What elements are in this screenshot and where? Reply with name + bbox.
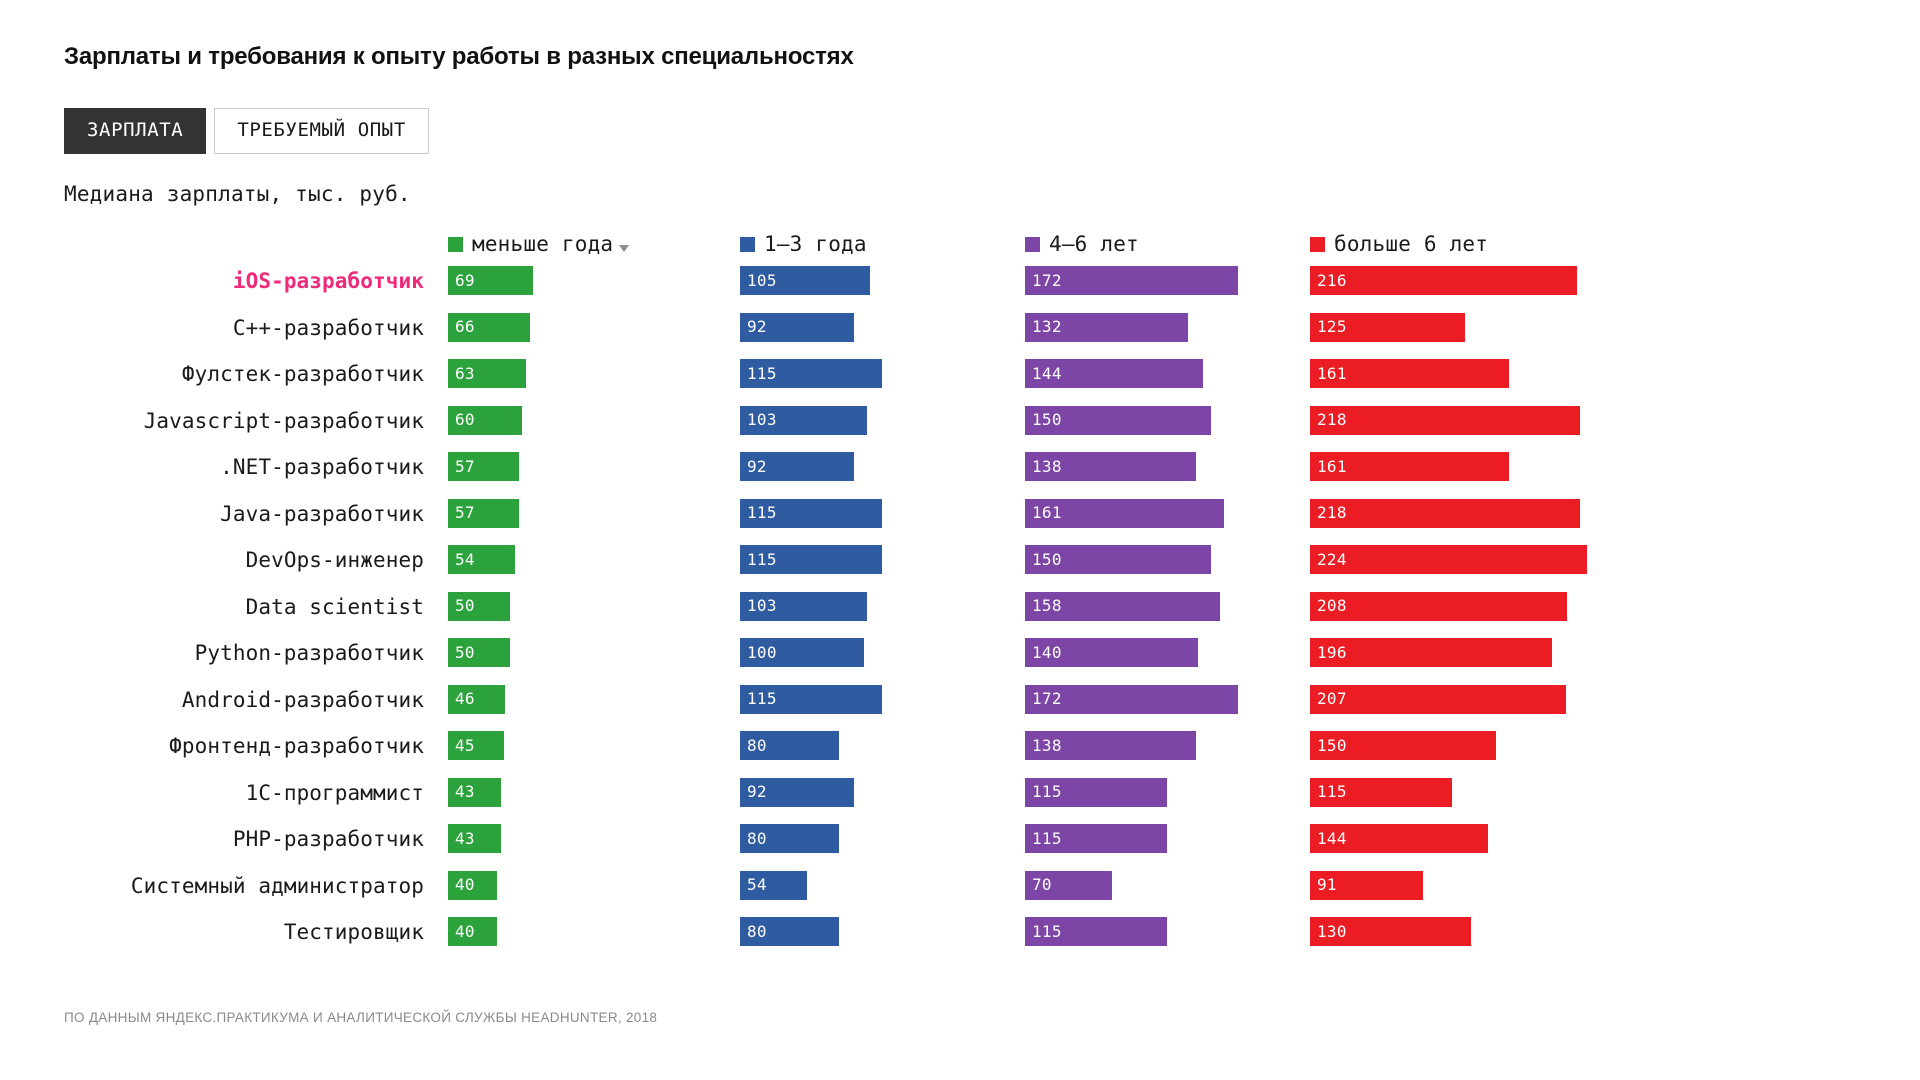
bar-series-1[interactable]: 50 <box>448 592 510 621</box>
row-label-10[interactable]: Android-разработчик <box>182 688 424 712</box>
bar-series-2[interactable]: 115 <box>740 499 882 528</box>
bar-value-label: 158 <box>1025 598 1062 614</box>
bar-series-4[interactable]: 91 <box>1310 871 1423 900</box>
bar-value-label: 46 <box>448 691 475 707</box>
bar-series-2[interactable]: 100 <box>740 638 864 667</box>
bar-series-3[interactable]: 132 <box>1025 313 1188 342</box>
chart-legend: меньше года1–3 года4–6 летбольше 6 лет <box>0 232 1920 266</box>
bar-series-4[interactable]: 207 <box>1310 685 1566 714</box>
bar-series-3[interactable]: 161 <box>1025 499 1224 528</box>
legend-swatch-icon <box>448 237 463 252</box>
chart-row: iOS-разработчик69105172216 <box>0 266 1920 313</box>
bar-value-label: 132 <box>1025 319 1062 335</box>
bar-series-2[interactable]: 80 <box>740 917 839 946</box>
chart-row: DevOps-инженер54115150224 <box>0 545 1920 592</box>
bar-value-label: 115 <box>1025 784 1062 800</box>
row-label-1[interactable]: iOS-разработчик <box>233 269 424 293</box>
bar-value-label: 40 <box>448 924 475 940</box>
bar-value-label: 43 <box>448 831 475 847</box>
legend-swatch-icon <box>1310 237 1325 252</box>
bar-series-4[interactable]: 216 <box>1310 266 1577 295</box>
bar-value-label: 140 <box>1025 645 1062 661</box>
legend-label: больше 6 лет <box>1334 232 1488 256</box>
row-label-13[interactable]: PHP-разработчик <box>233 827 424 851</box>
bar-series-2[interactable]: 103 <box>740 592 867 621</box>
bar-value-label: 138 <box>1025 459 1062 475</box>
row-label-11[interactable]: Фронтенд-разработчик <box>169 734 424 758</box>
bar-series-4[interactable]: 208 <box>1310 592 1567 621</box>
bar-series-1[interactable]: 60 <box>448 406 522 435</box>
bar-value-label: 161 <box>1025 505 1062 521</box>
bar-series-1[interactable]: 40 <box>448 917 497 946</box>
bar-series-3[interactable]: 150 <box>1025 406 1211 435</box>
bar-series-3[interactable]: 115 <box>1025 917 1167 946</box>
bar-value-label: 216 <box>1310 273 1347 289</box>
bar-value-label: 69 <box>448 273 475 289</box>
bar-series-2[interactable]: 92 <box>740 778 854 807</box>
bar-value-label: 115 <box>1025 924 1062 940</box>
page-title: Зарплаты и требования к опыту работы в р… <box>64 43 854 71</box>
bar-value-label: 50 <box>448 645 475 661</box>
bar-value-label: 115 <box>740 505 777 521</box>
bar-value-label: 43 <box>448 784 475 800</box>
bar-value-label: 80 <box>740 924 767 940</box>
chart-rows: iOS-разработчик69105172216C++-разработчи… <box>0 266 1920 964</box>
tab-required-experience[interactable]: ТРЕБУЕМЫЙ ОПЫТ <box>214 108 429 154</box>
row-label-14[interactable]: Системный администратор <box>131 874 424 898</box>
bar-series-1[interactable]: 40 <box>448 871 497 900</box>
legend-label: 4–6 лет <box>1049 232 1139 256</box>
bar-series-1[interactable]: 54 <box>448 545 515 574</box>
bar-series-3[interactable]: 138 <box>1025 731 1196 760</box>
row-label-9[interactable]: Python-разработчик <box>195 641 424 665</box>
chart-row: Фронтенд-разработчик4580138150 <box>0 731 1920 778</box>
bar-series-2[interactable]: 54 <box>740 871 807 900</box>
bar-value-label: 92 <box>740 784 767 800</box>
row-label-15[interactable]: Тестировщик <box>284 920 424 944</box>
bar-series-4[interactable]: 130 <box>1310 917 1471 946</box>
bar-value-label: 161 <box>1310 459 1347 475</box>
bar-series-4[interactable]: 161 <box>1310 359 1509 388</box>
chart-row: 1С-программист4392115115 <box>0 778 1920 825</box>
bar-series-1[interactable]: 50 <box>448 638 510 667</box>
legend-item-2[interactable]: 1–3 года <box>740 232 867 256</box>
bar-series-4[interactable]: 224 <box>1310 545 1587 574</box>
chart-row: Тестировщик4080115130 <box>0 917 1920 964</box>
row-label-12[interactable]: 1С-программист <box>246 781 424 805</box>
bar-value-label: 91 <box>1310 877 1337 893</box>
chart-row: Системный администратор40547091 <box>0 871 1920 918</box>
bar-series-2[interactable]: 105 <box>740 266 870 295</box>
bar-series-3[interactable]: 115 <box>1025 824 1167 853</box>
bar-series-4[interactable]: 161 <box>1310 452 1509 481</box>
bar-series-1[interactable]: 46 <box>448 685 505 714</box>
bar-series-1[interactable]: 66 <box>448 313 530 342</box>
bar-value-label: 115 <box>740 691 777 707</box>
chart-row: Data scientist50103158208 <box>0 592 1920 639</box>
caret-down-icon[interactable] <box>619 245 629 252</box>
bar-value-label: 66 <box>448 319 475 335</box>
row-label-6[interactable]: Java-разработчик <box>220 502 424 526</box>
chart-subtitle: Медиана зарплаты, тыс. руб. <box>64 182 411 206</box>
bar-value-label: 224 <box>1310 552 1347 568</box>
bar-value-label: 115 <box>1025 831 1062 847</box>
bar-series-3[interactable]: 158 <box>1025 592 1220 621</box>
legend-item-3[interactable]: 4–6 лет <box>1025 232 1139 256</box>
bar-value-label: 92 <box>740 459 767 475</box>
bar-series-3[interactable]: 150 <box>1025 545 1211 574</box>
bar-value-label: 144 <box>1310 831 1347 847</box>
bar-value-label: 92 <box>740 319 767 335</box>
chart-row: Javascript-разработчик60103150218 <box>0 406 1920 453</box>
bar-value-label: 80 <box>740 831 767 847</box>
chart-row: PHP-разработчик4380115144 <box>0 824 1920 871</box>
bar-series-3[interactable]: 172 <box>1025 266 1238 295</box>
bar-series-1[interactable]: 63 <box>448 359 526 388</box>
legend-swatch-icon <box>1025 237 1040 252</box>
bar-value-label: 40 <box>448 877 475 893</box>
row-label-4[interactable]: Javascript-разработчик <box>144 409 424 433</box>
bar-value-label: 150 <box>1310 738 1347 754</box>
bar-value-label: 208 <box>1310 598 1347 614</box>
bar-series-4[interactable]: 150 <box>1310 731 1496 760</box>
bar-series-1[interactable]: 43 <box>448 824 501 853</box>
bar-value-label: 57 <box>448 459 475 475</box>
bar-series-1[interactable]: 57 <box>448 452 519 481</box>
bar-series-3[interactable]: 70 <box>1025 871 1112 900</box>
row-label-2[interactable]: C++-разработчик <box>233 316 424 340</box>
bar-value-label: 115 <box>740 552 777 568</box>
bar-series-2[interactable]: 115 <box>740 359 882 388</box>
chart-row: Фулстек-разработчик63115144161 <box>0 359 1920 406</box>
tab-salary[interactable]: ЗАРПЛАТА <box>64 108 206 154</box>
bar-value-label: 207 <box>1310 691 1347 707</box>
bar-series-4[interactable]: 144 <box>1310 824 1488 853</box>
bar-series-4[interactable]: 218 <box>1310 499 1580 528</box>
bar-series-2[interactable]: 80 <box>740 824 839 853</box>
row-label-7[interactable]: DevOps-инженер <box>246 548 424 572</box>
bar-value-label: 63 <box>448 366 475 382</box>
legend-swatch-icon <box>740 237 755 252</box>
chart-row: C++-разработчик6692132125 <box>0 313 1920 360</box>
legend-item-1[interactable]: меньше года <box>448 232 629 256</box>
bar-series-4[interactable]: 125 <box>1310 313 1465 342</box>
bar-value-label: 70 <box>1025 877 1052 893</box>
chart-plot-area: меньше года1–3 года4–6 летбольше 6 лет i… <box>0 232 1920 964</box>
chart-row: Android-разработчик46115172207 <box>0 685 1920 732</box>
bar-value-label: 54 <box>448 552 475 568</box>
bar-value-label: 103 <box>740 412 777 428</box>
bar-value-label: 218 <box>1310 412 1347 428</box>
bar-value-label: 130 <box>1310 924 1347 940</box>
bar-value-label: 144 <box>1025 366 1062 382</box>
tab-bar: ЗАРПЛАТА ТРЕБУЕМЫЙ ОПЫТ <box>64 108 429 154</box>
chart-row: .NET-разработчик5792138161 <box>0 452 1920 499</box>
infographic-page: Зарплаты и требования к опыту работы в р… <box>0 0 1920 1080</box>
bar-series-1[interactable]: 45 <box>448 731 504 760</box>
legend-label: меньше года <box>472 232 613 256</box>
bar-series-4[interactable]: 196 <box>1310 638 1552 667</box>
bar-series-1[interactable]: 57 <box>448 499 519 528</box>
bar-value-label: 100 <box>740 645 777 661</box>
row-label-3[interactable]: Фулстек-разработчик <box>182 362 424 386</box>
chart-row: Python-разработчик50100140196 <box>0 638 1920 685</box>
bar-value-label: 115 <box>740 366 777 382</box>
row-label-5[interactable]: .NET-разработчик <box>220 455 424 479</box>
bar-value-label: 218 <box>1310 505 1347 521</box>
bar-value-label: 161 <box>1310 366 1347 382</box>
row-label-8[interactable]: Data scientist <box>246 595 424 619</box>
bar-series-4[interactable]: 115 <box>1310 778 1452 807</box>
bar-value-label: 105 <box>740 273 777 289</box>
bar-series-3[interactable]: 144 <box>1025 359 1203 388</box>
bar-value-label: 103 <box>740 598 777 614</box>
bar-series-2[interactable]: 115 <box>740 545 882 574</box>
bar-series-1[interactable]: 43 <box>448 778 501 807</box>
bar-value-label: 45 <box>448 738 475 754</box>
bar-series-3[interactable]: 138 <box>1025 452 1196 481</box>
legend-label: 1–3 года <box>764 232 867 256</box>
bar-value-label: 60 <box>448 412 475 428</box>
bar-series-3[interactable]: 172 <box>1025 685 1238 714</box>
bar-series-3[interactable]: 140 <box>1025 638 1198 667</box>
bar-value-label: 54 <box>740 877 767 893</box>
bar-series-3[interactable]: 115 <box>1025 778 1167 807</box>
bar-value-label: 80 <box>740 738 767 754</box>
bar-series-2[interactable]: 92 <box>740 313 854 342</box>
bar-value-label: 196 <box>1310 645 1347 661</box>
bar-value-label: 125 <box>1310 319 1347 335</box>
bar-value-label: 57 <box>448 505 475 521</box>
bar-value-label: 115 <box>1310 784 1347 800</box>
chart-row: Java-разработчик57115161218 <box>0 499 1920 546</box>
bar-value-label: 150 <box>1025 412 1062 428</box>
legend-item-4[interactable]: больше 6 лет <box>1310 232 1488 256</box>
bar-value-label: 150 <box>1025 552 1062 568</box>
bar-value-label: 172 <box>1025 273 1062 289</box>
bar-series-4[interactable]: 218 <box>1310 406 1580 435</box>
bar-value-label: 172 <box>1025 691 1062 707</box>
bar-series-1[interactable]: 69 <box>448 266 533 295</box>
bar-value-label: 50 <box>448 598 475 614</box>
bar-series-2[interactable]: 115 <box>740 685 882 714</box>
bar-series-2[interactable]: 92 <box>740 452 854 481</box>
bar-series-2[interactable]: 103 <box>740 406 867 435</box>
source-footnote: ПО ДАННЫМ ЯНДЕКС.ПРАКТИКУМА И АНАЛИТИЧЕС… <box>64 1010 657 1025</box>
bar-value-label: 138 <box>1025 738 1062 754</box>
bar-series-2[interactable]: 80 <box>740 731 839 760</box>
